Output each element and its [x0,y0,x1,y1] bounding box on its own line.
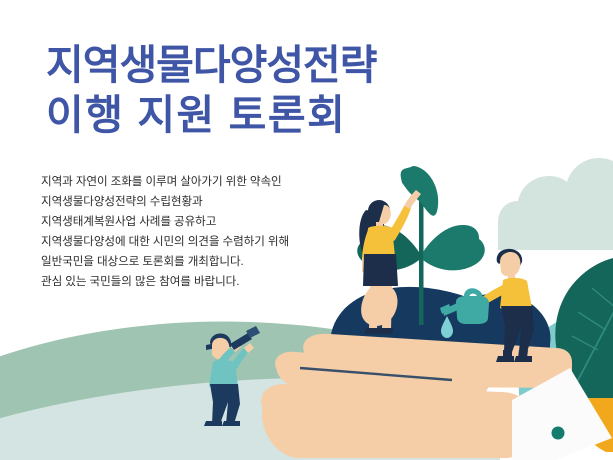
poster-canvas: 지역생물다양성전략 이행 지원 토론회 지역과 자연이 조화를 이루며 살아가기… [0,0,613,460]
cuff-button-icon [552,427,565,440]
illustration-hand-holding-plant-scene [0,0,613,460]
